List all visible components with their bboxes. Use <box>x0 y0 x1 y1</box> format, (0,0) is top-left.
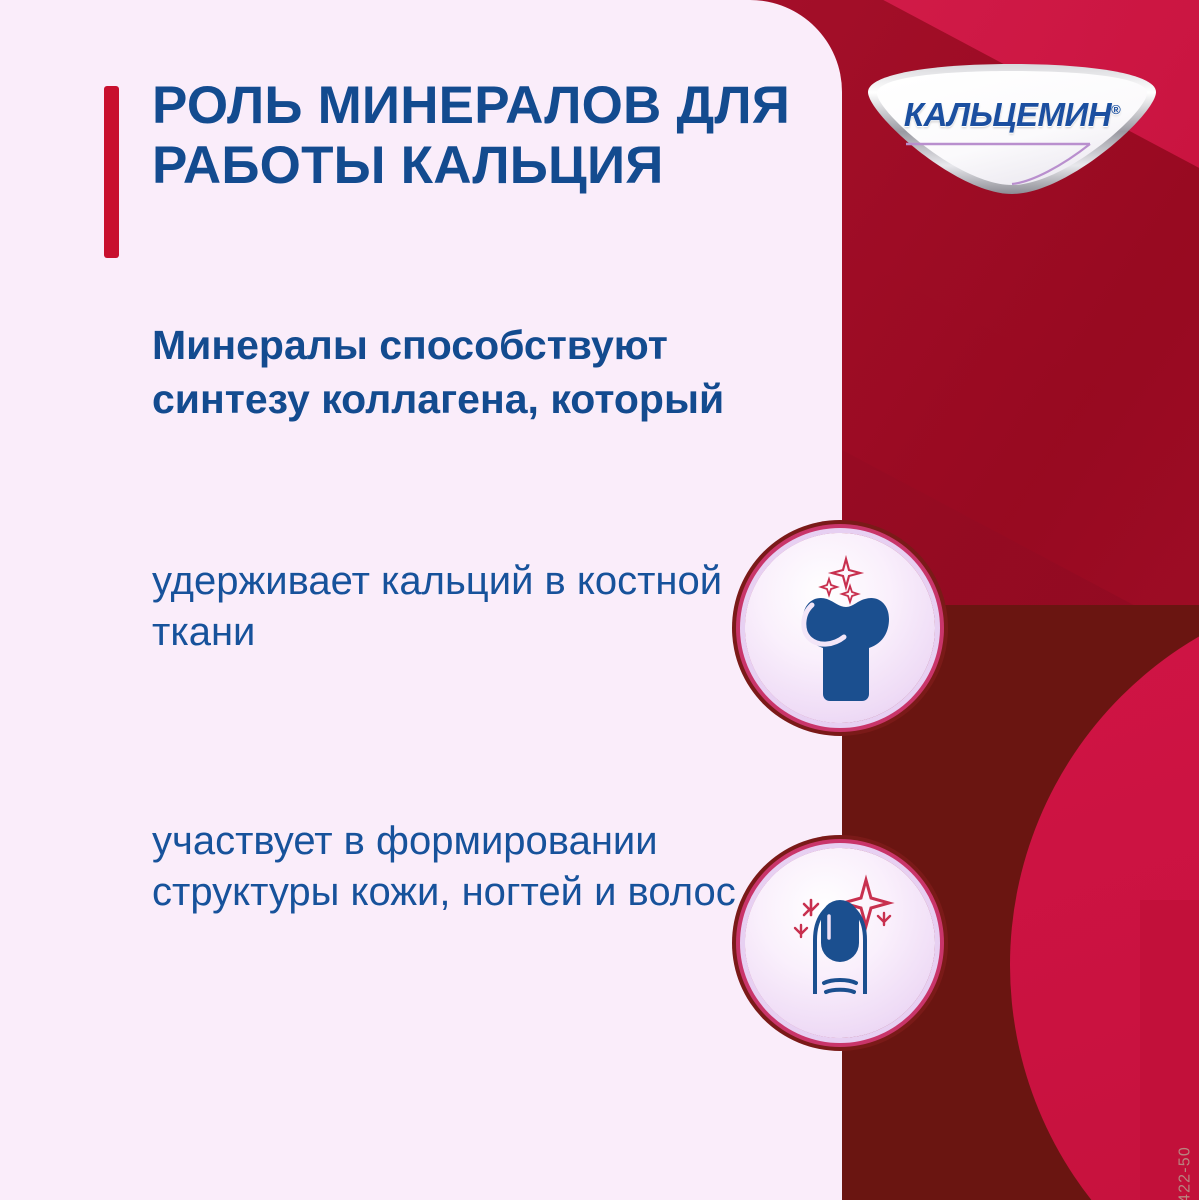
bone-icon <box>745 533 935 723</box>
bone-icon-badge <box>745 533 935 723</box>
page-title: РОЛЬ МИНЕРАЛОВ ДЛЯ РАБОТЫ КАЛЬЦИЯ <box>152 76 792 197</box>
benefit-text-bone: удерживает кальций в костной ткани <box>152 556 772 658</box>
advertisement-canvas: РОЛЬ МИНЕРАЛОВ ДЛЯ РАБОТЫ КАЛЬЦИЯ Минера… <box>0 0 1199 1200</box>
fingernail-icon <box>745 848 935 1038</box>
benefit-text-nails: участвует в формировании структуры кожи,… <box>152 816 772 918</box>
regulatory-code: CH-20250422-50 <box>1177 1146 1195 1200</box>
logo-shield-shape <box>862 62 1162 202</box>
brand-logo: КАЛЬЦЕМИН® <box>862 62 1162 202</box>
fingernail-icon-badge <box>745 848 935 1038</box>
lead-paragraph: Минералы способствуют синтезу коллагена,… <box>152 318 832 426</box>
title-accent-bar <box>104 86 119 258</box>
